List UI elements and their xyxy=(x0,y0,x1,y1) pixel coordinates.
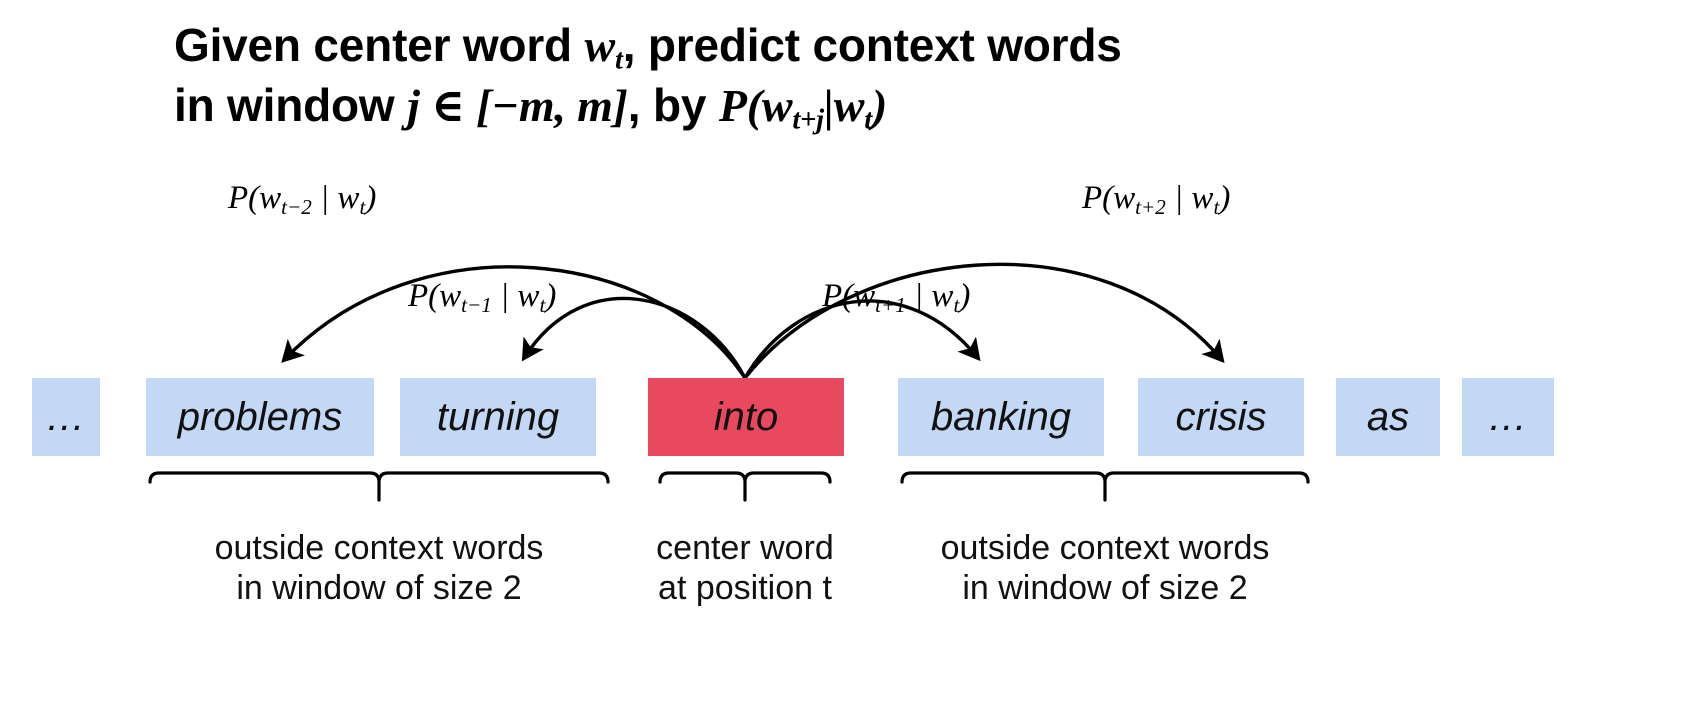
slide-canvas: Given center word wt, predict context wo… xyxy=(0,0,1700,712)
word-box-ellipsis-right[interactable]: … xyxy=(1462,378,1554,456)
arrow-to-turning xyxy=(524,298,745,378)
title-var-wt: wt xyxy=(585,20,623,71)
brace-left xyxy=(150,473,608,482)
caption-right-line-2: in window of size 2 xyxy=(905,568,1305,608)
caption-center-line-2: at position t xyxy=(597,568,893,608)
word-box-as[interactable]: as xyxy=(1336,378,1440,456)
word-label: banking xyxy=(931,395,1071,440)
word-label: as xyxy=(1367,395,1409,440)
title-line-2-text-b: , by xyxy=(628,79,719,131)
title-elem-of: ∈ xyxy=(420,80,476,131)
probability-label-t-minus-1: P(wt−1 | wt) xyxy=(408,278,556,318)
caption-left-line-1: outside context words xyxy=(179,528,579,568)
word-box-ellipsis-left[interactable]: … xyxy=(32,378,100,456)
caption-right-line-1: outside context words xyxy=(905,528,1305,568)
caption-left: outside context words in window of size … xyxy=(179,528,579,608)
title-line-1-text-a: Given center word xyxy=(174,19,585,71)
title-line-1: Given center word wt, predict context wo… xyxy=(174,18,1574,78)
page-title: Given center word wt, predict context wo… xyxy=(174,18,1574,137)
brace-right xyxy=(902,473,1308,482)
word-box-crisis[interactable]: crisis xyxy=(1138,378,1304,456)
title-line-2: in window j ∈ [−m, m], by P(wt+j|wt) xyxy=(174,78,1574,138)
probability-label-t-minus-2: P(wt−2 | wt) xyxy=(228,180,376,220)
title-var-j: j xyxy=(407,80,420,131)
title-range: [−m, m] xyxy=(476,80,628,131)
word-label: into xyxy=(714,395,779,440)
word-label: problems xyxy=(178,395,343,440)
word-label: crisis xyxy=(1175,395,1266,440)
word-box-into-center[interactable]: into xyxy=(648,378,844,456)
caption-left-line-2: in window of size 2 xyxy=(179,568,579,608)
caption-center: center word at position t xyxy=(597,528,893,608)
word-label: turning xyxy=(437,395,559,440)
probability-label-t-plus-1: P(wt+1 | wt) xyxy=(822,278,970,318)
word-box-problems[interactable]: problems xyxy=(146,378,374,456)
brace-center xyxy=(660,473,830,482)
title-prob-expr: P(wt+j|wt) xyxy=(719,80,887,131)
title-line-1-text-b: , predict context words xyxy=(623,19,1122,71)
caption-right: outside context words in window of size … xyxy=(905,528,1305,608)
word-box-banking[interactable]: banking xyxy=(898,378,1104,456)
arrow-to-crisis xyxy=(745,264,1222,378)
probability-label-t-plus-2: P(wt+2 | wt) xyxy=(1082,180,1230,220)
word-box-turning[interactable]: turning xyxy=(400,378,596,456)
caption-center-line-1: center word xyxy=(597,528,893,568)
title-line-2-text-a: in window xyxy=(174,79,407,131)
word-label: … xyxy=(1488,395,1529,440)
word-label: … xyxy=(46,395,87,440)
